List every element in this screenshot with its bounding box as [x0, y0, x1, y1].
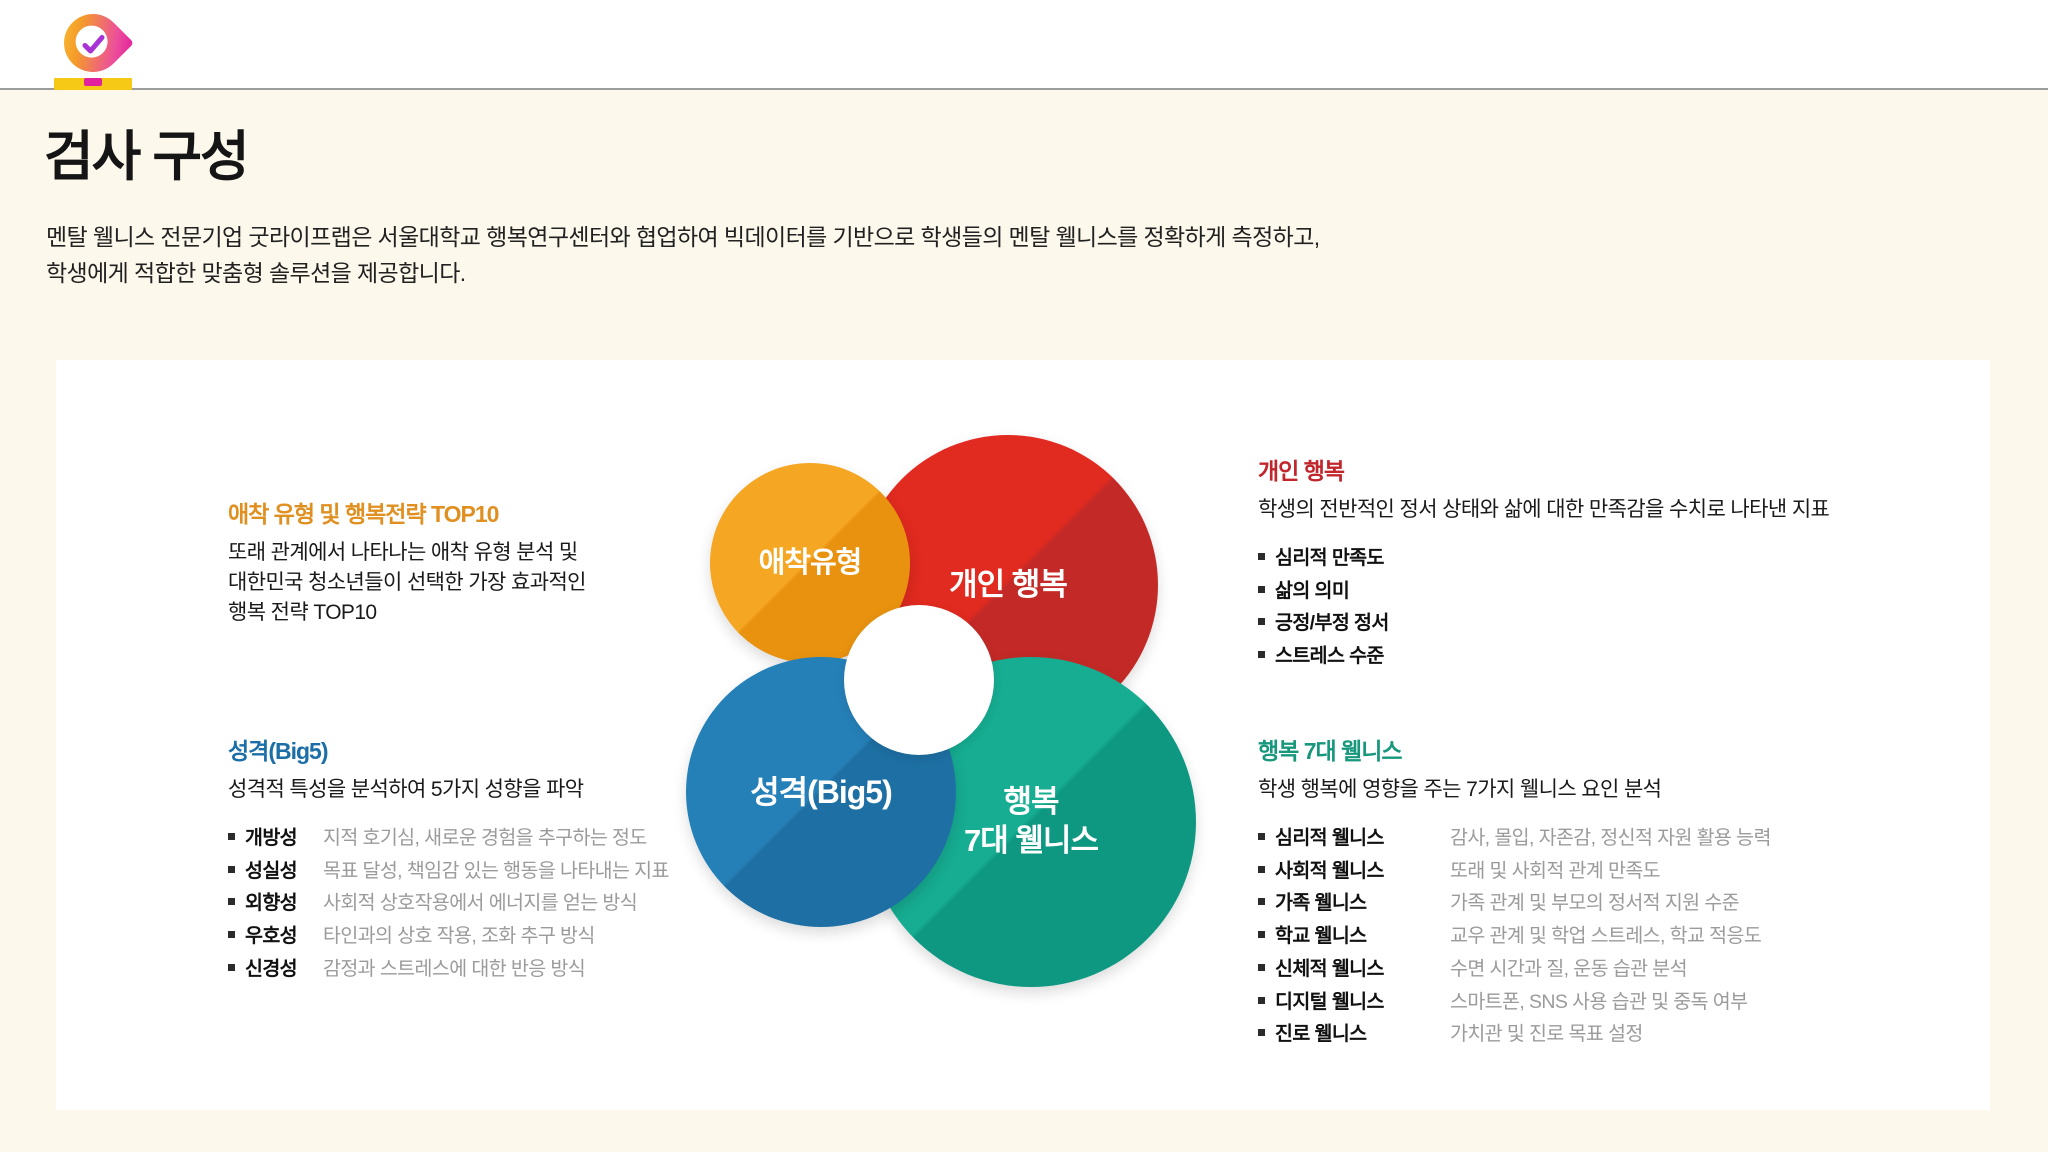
attachment-sub-line-3: 행복 전략 TOP10: [228, 598, 586, 628]
petal-label-group: 행복 7대 웰니스: [964, 783, 1098, 861]
attachment-sub-line-1: 또래 관계에서 나타나는 애착 유형 분석 및: [228, 538, 586, 568]
diagram-center-circle: [844, 605, 994, 755]
list-item: 성실성 목표 달성, 책임감 있는 행동을 나타내는 지표: [228, 855, 669, 888]
list-item: 삶의 의미: [1258, 575, 1829, 608]
page-header: [0, 0, 2048, 90]
factor-name: 삶의 의미: [1275, 575, 1349, 608]
bullet-square-icon: [228, 898, 235, 905]
trait-desc: 감정과 스트레스에 대한 반응 방식: [323, 953, 585, 986]
trait-name: 성실성: [245, 855, 323, 888]
bullet-square-icon: [1258, 931, 1265, 938]
attachment-sub-line-2: 대한민국 청소년들이 선택한 가장 효과적인: [228, 568, 586, 598]
petal-label: 애착유형: [759, 545, 862, 581]
block-wellness-title: 행복 7대 웰니스: [1258, 732, 1771, 766]
list-item: 심리적 만족도: [1258, 542, 1829, 575]
bullet-square-icon: [1258, 586, 1265, 593]
block-wellness-subtext: 학생 행복에 영향을 주는 7가지 웰니스 요인 분석: [1258, 775, 1771, 805]
wellness-desc: 가족 관계 및 부모의 정서적 지원 수준: [1450, 887, 1739, 920]
trait-desc: 사회적 상호작용에서 에너지를 얻는 방식: [323, 887, 637, 920]
list-item: 외향성 사회적 상호작용에서 에너지를 얻는 방식: [228, 887, 669, 920]
wellness-name: 진로 웰니스: [1275, 1018, 1450, 1051]
trait-desc: 타인과의 상호 작용, 조화 추구 방식: [323, 920, 595, 953]
wellness-name: 디지털 웰니스: [1275, 986, 1450, 1019]
big5-trait-list: 개방성 지적 호기심, 새로운 경험을 추구하는 정도 성실성 목표 달성, 책…: [228, 822, 669, 986]
bullet-square-icon: [1258, 553, 1265, 560]
trait-name: 우호성: [245, 920, 323, 953]
bullet-square-icon: [1258, 651, 1265, 658]
bullet-square-icon: [1258, 618, 1265, 625]
page-description-line-2: 학생에게 적합한 맞춤형 솔루션을 제공합니다.: [46, 256, 1320, 292]
list-item: 우호성 타인과의 상호 작용, 조화 추구 방식: [228, 920, 669, 953]
wellness-desc: 또래 및 사회적 관계 만족도: [1450, 855, 1660, 888]
bullet-square-icon: [228, 964, 235, 971]
trait-name: 외향성: [245, 887, 323, 920]
page-title: 검사 구성: [44, 112, 248, 191]
list-item: 가족 웰니스 가족 관계 및 부모의 정서적 지원 수준: [1258, 887, 1771, 920]
block-big5: 성격(Big5) 성격적 특성을 분석하여 5가지 성향을 파악 개방성 지적 …: [228, 732, 669, 986]
wellness-name: 학교 웰니스: [1275, 920, 1450, 953]
bullet-square-icon: [1258, 964, 1265, 971]
bullet-square-icon: [1258, 898, 1265, 905]
page-description: 멘탈 웰니스 전문기업 굿라이프랩은 서울대학교 행복연구센터와 협업하여 빅데…: [46, 220, 1320, 291]
block-happiness-subtext: 학생의 전반적인 정서 상태와 삶에 대한 만족감을 수치로 나타낸 지표: [1258, 495, 1829, 525]
block-attachment-subtext: 또래 관계에서 나타나는 애착 유형 분석 및 대한민국 청소년들이 선택한 가…: [228, 538, 586, 627]
petal-label-line-2: 7대 웰니스: [964, 822, 1098, 861]
petal-label: 개인 행복: [949, 566, 1067, 605]
wellness-desc: 스마트폰, SNS 사용 습관 및 중독 여부: [1450, 986, 1747, 1019]
list-item: 학교 웰니스 교우 관계 및 학업 스트레스, 학교 적응도: [1258, 920, 1771, 953]
list-item: 사회적 웰니스 또래 및 사회적 관계 만족도: [1258, 855, 1771, 888]
wellness-desc: 가치관 및 진로 목표 설정: [1450, 1018, 1643, 1051]
block-seven-wellness: 행복 7대 웰니스 학생 행복에 영향을 주는 7가지 웰니스 요인 분석 심리…: [1258, 732, 1771, 1051]
happiness-factor-list: 심리적 만족도 삶의 의미 긍정/부정 정서 스트레스 수준: [1258, 542, 1829, 673]
content-card: 애착 유형 및 행복전략 TOP10 또래 관계에서 나타나는 애착 유형 분석…: [56, 360, 1990, 1110]
trait-name: 신경성: [245, 953, 323, 986]
block-attachment-title: 애착 유형 및 행복전략 TOP10: [228, 495, 586, 529]
block-personal-happiness: 개인 행복 학생의 전반적인 정서 상태와 삶에 대한 만족감을 수치로 나타낸…: [1258, 452, 1829, 673]
bullet-square-icon: [1258, 866, 1265, 873]
factor-name: 긍정/부정 정서: [1275, 607, 1389, 640]
trait-name: 개방성: [245, 822, 323, 855]
list-item: 긍정/부정 정서: [1258, 607, 1829, 640]
list-item: 신경성 감정과 스트레스에 대한 반응 방식: [228, 953, 669, 986]
wellness-factor-list: 심리적 웰니스 감사, 몰입, 자존감, 정신적 자원 활용 능력 사회적 웰니…: [1258, 822, 1771, 1051]
list-item: 진로 웰니스 가치관 및 진로 목표 설정: [1258, 1018, 1771, 1051]
block-attachment: 애착 유형 및 행복전략 TOP10 또래 관계에서 나타나는 애착 유형 분석…: [228, 495, 586, 627]
list-item: 디지털 웰니스 스마트폰, SNS 사용 습관 및 중독 여부: [1258, 986, 1771, 1019]
bullet-square-icon: [228, 866, 235, 873]
bullet-square-icon: [228, 833, 235, 840]
logo-pin-tip: [84, 78, 102, 86]
wellness-name: 가족 웰니스: [1275, 887, 1450, 920]
wellness-name: 사회적 웰니스: [1275, 855, 1450, 888]
list-item: 개방성 지적 호기심, 새로운 경험을 추구하는 정도: [228, 822, 669, 855]
wellness-desc: 감사, 몰입, 자존감, 정신적 자원 활용 능력: [1450, 822, 1771, 855]
factor-name: 스트레스 수준: [1275, 640, 1384, 673]
list-item: 스트레스 수준: [1258, 640, 1829, 673]
trait-desc: 지적 호기심, 새로운 경험을 추구하는 정도: [323, 822, 647, 855]
petal-label-line-1: 행복: [964, 783, 1098, 822]
block-big5-title: 성격(Big5): [228, 732, 669, 766]
bullet-square-icon: [1258, 1029, 1265, 1036]
bullet-square-icon: [1258, 833, 1265, 840]
four-petal-diagram: 개인 행복 행복 7대 웰니스 애착유형 성격(Big5): [676, 435, 1236, 1015]
bullet-square-icon: [1258, 997, 1265, 1004]
block-big5-subtext: 성격적 특성을 분석하여 5가지 성향을 파악: [228, 775, 669, 805]
block-happiness-title: 개인 행복: [1258, 452, 1829, 486]
bullet-square-icon: [228, 931, 235, 938]
trait-desc: 목표 달성, 책임감 있는 행동을 나타내는 지표: [323, 855, 669, 888]
page-description-line-1: 멘탈 웰니스 전문기업 굿라이프랩은 서울대학교 행복연구센터와 협업하여 빅데…: [46, 220, 1320, 256]
check-icon: [76, 28, 110, 62]
wellness-desc: 교우 관계 및 학업 스트레스, 학교 적응도: [1450, 920, 1761, 953]
brand-logo[interactable]: [42, 8, 152, 90]
petal-label: 성격(Big5): [750, 772, 892, 812]
list-item: 신체적 웰니스 수면 시간과 질, 운동 습관 분석: [1258, 953, 1771, 986]
factor-name: 심리적 만족도: [1275, 542, 1384, 575]
list-item: 심리적 웰니스 감사, 몰입, 자존감, 정신적 자원 활용 능력: [1258, 822, 1771, 855]
wellness-name: 신체적 웰니스: [1275, 953, 1450, 986]
wellness-desc: 수면 시간과 질, 운동 습관 분석: [1450, 953, 1687, 986]
wellness-name: 심리적 웰니스: [1275, 822, 1450, 855]
